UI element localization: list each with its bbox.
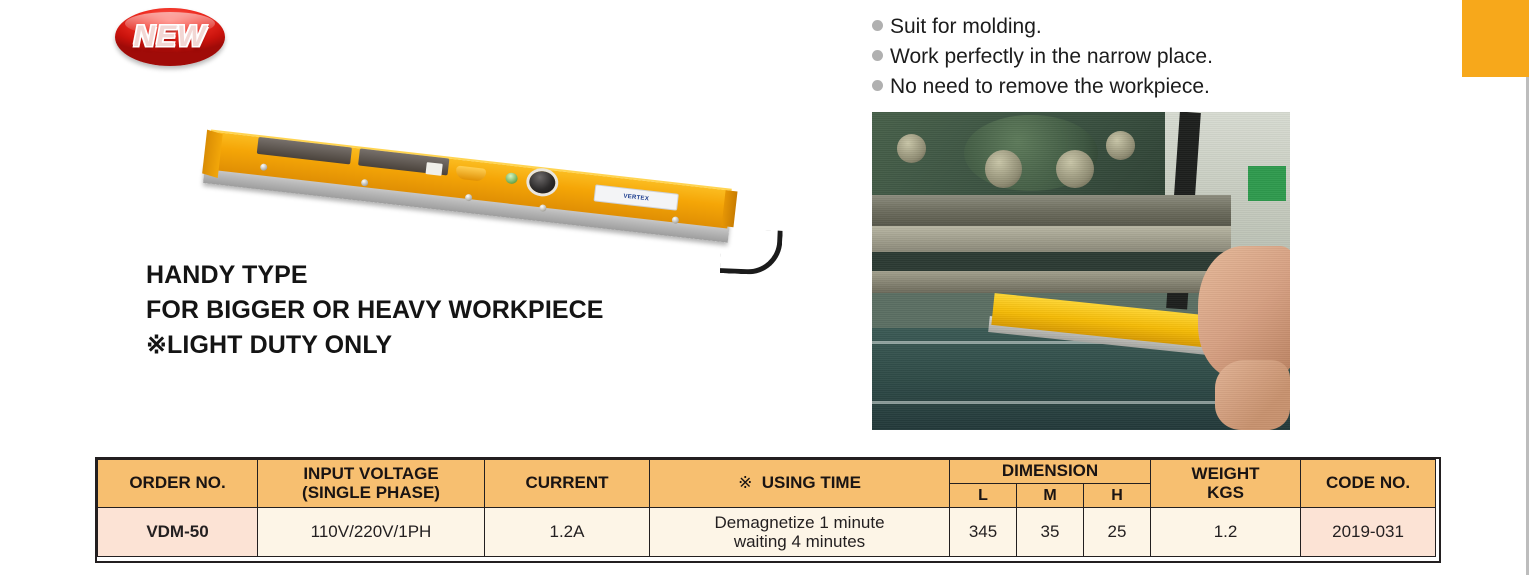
page-title: HANDY TYPE FOR BIGGER OR HEAVY WORKPIECE… — [146, 258, 604, 363]
list-item: Work perfectly in the narrow place. — [872, 42, 1332, 72]
headline-line-2: FOR BIGGER OR HEAVY WORKPIECE — [146, 293, 604, 328]
header-weight-line2: KGS — [1151, 484, 1300, 502]
cell-using-time-line1: Demagnetize 1 minute — [650, 513, 949, 532]
list-item: No need to remove the workpiece. — [872, 72, 1332, 102]
machine-rail-middle — [872, 271, 1223, 293]
machine-rail-upper-2 — [872, 226, 1231, 251]
cell-code-no: 2019-031 — [1301, 508, 1436, 557]
header-dim-l: L — [950, 484, 1017, 508]
header-using-time-label: USING TIME — [762, 473, 861, 492]
bullet-dot-icon — [872, 20, 883, 31]
reference-mark-icon: ※ — [738, 473, 752, 492]
specification-table: ORDER NO. INPUT VOLTAGE (SINGLE PHASE) C… — [97, 459, 1436, 557]
cell-input-voltage: 110V/220V/1PH — [258, 508, 485, 557]
machine-bolt — [897, 134, 926, 163]
operator-hand-lower — [1215, 360, 1290, 430]
bar-right-end-cap — [722, 190, 738, 227]
cell-using-time-line2: waiting 4 minutes — [650, 532, 949, 551]
feature-text: No need to remove the workpiece. — [890, 72, 1210, 102]
cell-using-time: Demagnetize 1 minute waiting 4 minutes — [650, 508, 950, 557]
cell-dim-m: 35 — [1017, 508, 1084, 557]
bullet-dot-icon — [872, 80, 883, 91]
header-order-no: ORDER NO. — [98, 460, 258, 508]
feature-text: Work perfectly in the narrow place. — [890, 42, 1213, 72]
feature-list: Suit for molding. Work perfectly in the … — [872, 12, 1332, 102]
header-input-voltage: INPUT VOLTAGE (SINGLE PHASE) — [258, 460, 485, 508]
header-weight: WEIGHT KGS — [1151, 460, 1301, 508]
header-weight-line1: WEIGHT — [1151, 465, 1300, 483]
header-dim-m: M — [1017, 484, 1084, 508]
exit-sign — [1248, 166, 1286, 201]
cell-dim-l: 345 — [950, 508, 1017, 557]
cell-current: 1.2A — [485, 508, 650, 557]
product-photo: VERTEX — [195, 118, 755, 248]
header-current: CURRENT — [485, 460, 650, 508]
new-badge: NEW — [115, 8, 225, 66]
header-dim-h: H — [1084, 484, 1151, 508]
cell-order-no: VDM-50 — [98, 508, 258, 557]
application-photo — [872, 112, 1290, 430]
table-header-row-1: ORDER NO. INPUT VOLTAGE (SINGLE PHASE) C… — [98, 460, 1436, 484]
header-using-time: ※ USING TIME — [650, 460, 950, 508]
headline-line-1: HANDY TYPE — [146, 258, 604, 293]
orange-accent-block — [1462, 0, 1529, 77]
header-input-voltage-line2: (SINGLE PHASE) — [258, 484, 484, 502]
list-item: Suit for molding. — [872, 12, 1332, 42]
header-code-no: CODE NO. — [1301, 460, 1436, 508]
machine-bolt — [1056, 150, 1094, 188]
power-cord — [720, 228, 783, 276]
machine-bolt — [1106, 131, 1135, 160]
new-badge-label: NEW — [115, 8, 225, 66]
headline-line-3: ※LIGHT DUTY ONLY — [146, 328, 604, 363]
cell-weight: 1.2 — [1151, 508, 1301, 557]
header-input-voltage-line1: INPUT VOLTAGE — [258, 465, 484, 483]
table-row: VDM-50 110V/220V/1PH 1.2A Demagnetize 1 … — [98, 508, 1436, 557]
feature-text: Suit for molding. — [890, 12, 1042, 42]
spec-tag — [425, 162, 442, 176]
bullet-dot-icon — [872, 50, 883, 61]
header-dimension-group: DIMENSION — [950, 460, 1151, 484]
cell-dim-h: 25 — [1084, 508, 1151, 557]
